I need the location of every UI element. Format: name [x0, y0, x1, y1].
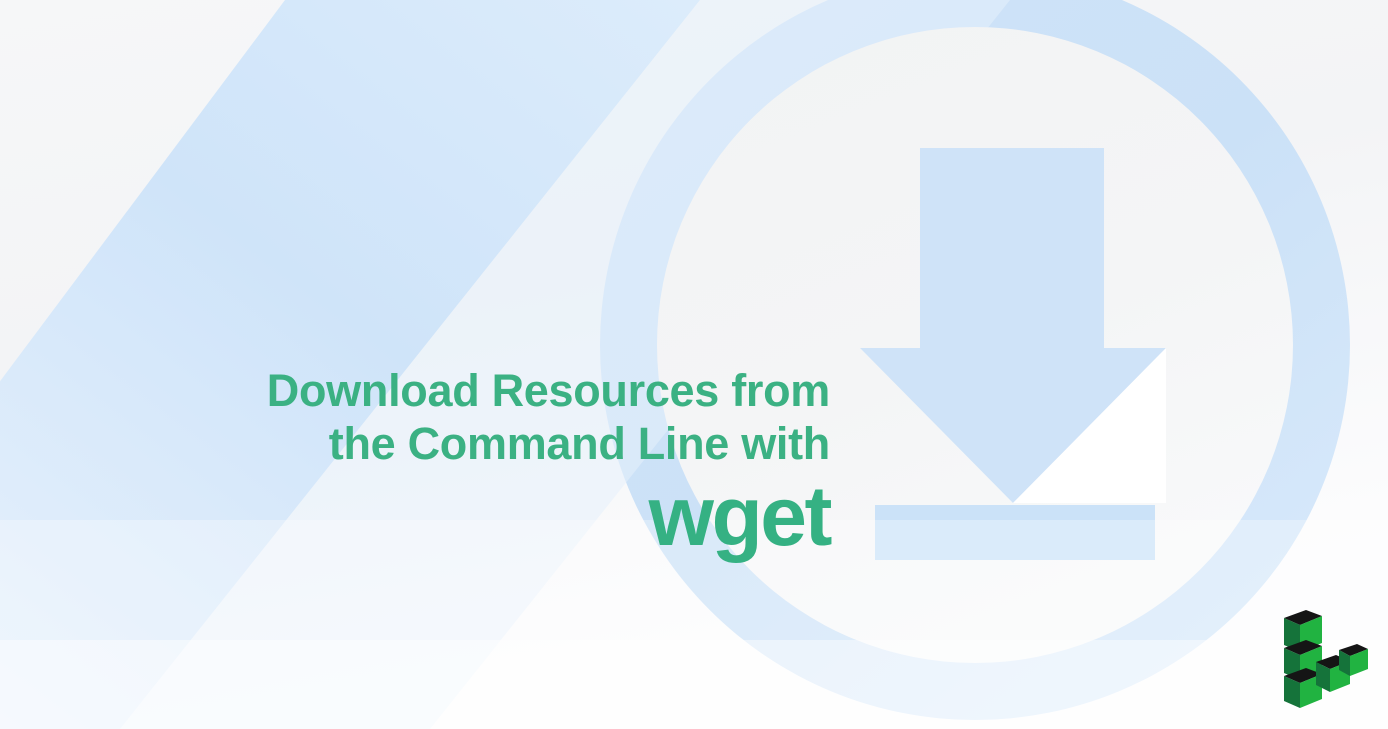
green-cubes-logo [1278, 604, 1368, 712]
slide-canvas: Download Resources from the Command Line… [0, 0, 1388, 729]
bottom-fade-2 [0, 640, 1388, 729]
download-arrow-shaft [920, 148, 1104, 350]
cube-arm-outer [1339, 644, 1368, 676]
background-artwork [0, 0, 1388, 729]
